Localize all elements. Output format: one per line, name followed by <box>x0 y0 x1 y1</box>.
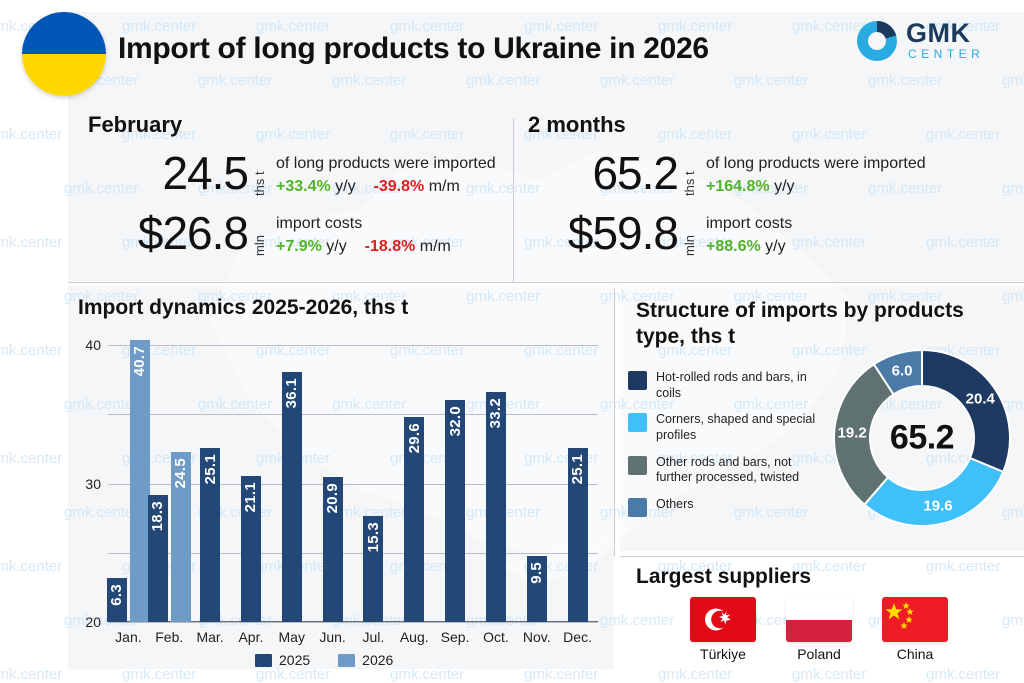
donut-legend-swatch <box>628 413 647 432</box>
donut-chart-title: Structure of imports by products type, t… <box>636 298 1006 349</box>
y-axis-tick-label: 30 <box>85 476 101 492</box>
donut-segment-value: 20.4 <box>966 391 995 408</box>
kpi-cost-description: import costs <box>706 214 792 234</box>
ukraine-flag-circle-icon <box>22 12 106 96</box>
donut-legend-item[interactable]: Corners, shaped and special profiles <box>628 412 818 443</box>
kpi-volume-row: 65.2 ths t of long products were importe… <box>528 152 926 198</box>
bar-value-label: 36.1 <box>283 378 300 408</box>
kpi-change-value: +164.8% <box>706 178 770 195</box>
donut-legend-item[interactable]: Others <box>628 497 818 517</box>
bar-group: 9.5Nov. <box>516 345 557 622</box>
donut-legend-label: Corners, shaped and special profiles <box>656 412 818 443</box>
turkiye-flag-icon <box>690 597 756 642</box>
page-title: Import of long products to Ukraine in 20… <box>118 32 709 66</box>
kpi-change-basis: y/y <box>326 238 346 255</box>
bar: 15.3 <box>363 516 383 622</box>
kpi-change-basis: y/y <box>765 238 785 255</box>
bar-value-label: 29.6 <box>406 423 423 453</box>
gmk-donut-mark-icon <box>856 20 898 62</box>
supplier-name: Poland <box>786 646 852 662</box>
suppliers-title: Largest suppliers <box>636 565 811 589</box>
bar: 9.5 <box>527 556 547 622</box>
x-axis-tick-label: Feb. <box>149 629 190 645</box>
donut-segment-value: 6.0 <box>892 362 913 379</box>
kpi-volume-unit: ths t <box>253 154 266 196</box>
x-axis-tick-label: Jan. <box>108 629 149 645</box>
bar-group: 20.9Jun. <box>312 345 353 622</box>
kpi-cost-row: $26.8 mln import costs +7.9% y/y -18.8% … <box>88 212 496 258</box>
y-axis-tick-label: 40 <box>85 337 101 353</box>
kpi-change-basis: m/m <box>420 238 451 255</box>
bar-chart-title: Import dynamics 2025-2026, ths t <box>78 296 408 320</box>
x-axis-tick-label: Dec. <box>557 629 598 645</box>
x-axis-tick-label: Mar. <box>190 629 231 645</box>
x-axis-tick-label: Nov. <box>516 629 557 645</box>
bar-value-label: 9.5 <box>528 562 545 584</box>
kpi-cost-changes: +7.9% y/y -18.8% m/m <box>276 237 451 258</box>
bar-group: 25.1Dec. <box>557 345 598 622</box>
logo-subtitle: CENTER <box>908 47 984 61</box>
bar: 21.1 <box>241 476 261 622</box>
x-axis-tick-label: Jun. <box>312 629 353 645</box>
bar-group: 21.1Apr. <box>231 345 272 622</box>
logo-name: GMK <box>906 18 971 49</box>
supplier-poland: Poland <box>786 597 852 662</box>
bar: 32.0 <box>445 400 465 622</box>
legend-label: 2026 <box>362 652 393 668</box>
kpi-block-two-months: 2 months 65.2 ths t of long products wer… <box>528 112 926 258</box>
bar-group: 33.2Oct. <box>476 345 517 622</box>
flag-blue-stripe <box>22 12 106 54</box>
bar-value-label: 33.2 <box>487 398 504 428</box>
supplier-name: Türkiye <box>690 646 756 662</box>
x-axis-tick-label: Oct. <box>476 629 517 645</box>
bar: 18.3 <box>148 495 168 622</box>
bar-chart-legend: 20252026 <box>255 652 393 668</box>
donut-legend-swatch <box>628 498 647 517</box>
gmk-center-logo: GMK CENTER <box>856 16 1006 68</box>
flag-yellow-stripe <box>22 54 106 96</box>
donut-chart-legend: Hot-rolled rods and bars, in coilsCorner… <box>628 370 818 528</box>
bar-value-label: 25.1 <box>202 454 219 484</box>
bar-group: 25.1Mar. <box>190 345 231 622</box>
bar-group: 18.324.5Feb. <box>149 345 190 622</box>
kpi-cost-value: $26.8 <box>88 212 248 256</box>
kpi-change-basis: y/y <box>774 178 794 195</box>
bar: 29.6 <box>404 417 424 622</box>
bar-group: 29.6Aug. <box>394 345 435 622</box>
infographic-canvas: gmk.centergmk.centergmk.centergmk.center… <box>0 0 1024 683</box>
divider-vertical-kpi <box>513 118 514 283</box>
bar-value-label: 25.1 <box>569 454 586 484</box>
donut-legend-label: Hot-rolled rods and bars, in coils <box>656 370 818 401</box>
donut-segment-value: 19.6 <box>923 498 952 515</box>
x-axis-tick-label: Aug. <box>394 629 435 645</box>
poland-white-stripe <box>786 597 852 620</box>
legend-label: 2025 <box>279 652 310 668</box>
bar-group: 6.340.7Jan. <box>108 345 149 622</box>
grid-line: 0 <box>108 622 598 623</box>
kpi-period-label: 2 months <box>528 112 926 138</box>
bar: 25.1 <box>568 448 588 622</box>
bar-group: 15.3Jul. <box>353 345 394 622</box>
bar: 33.2 <box>486 392 506 622</box>
kpi-cost-description: import costs <box>276 214 451 234</box>
kpi-volume-value: 24.5 <box>88 152 248 196</box>
donut-legend-swatch <box>628 371 647 390</box>
legend-item[interactable]: 2025 <box>255 652 310 668</box>
bar: 6.3 <box>107 578 127 622</box>
x-axis-tick-label: Apr. <box>231 629 272 645</box>
kpi-change-basis: y/y <box>335 178 355 195</box>
bar: 36.1 <box>282 372 302 622</box>
x-axis-tick-label: May <box>271 629 312 645</box>
x-axis-tick-label: Sep. <box>435 629 476 645</box>
kpi-change-value: +88.6% <box>706 238 761 255</box>
donut-legend-item[interactable]: Hot-rolled rods and bars, in coils <box>628 370 818 401</box>
bar-value-label: 32.0 <box>447 406 464 436</box>
donut-center-total: 65.2 <box>890 419 954 458</box>
donut-legend-label: Other rods and bars, not further process… <box>656 455 818 486</box>
x-axis-tick-label: Jul. <box>353 629 394 645</box>
donut-legend-item[interactable]: Other rods and bars, not further process… <box>628 455 818 486</box>
bar: 25.1 <box>200 448 220 622</box>
bar-value-label: 20.9 <box>324 483 341 513</box>
poland-flag-icon <box>786 597 852 642</box>
kpi-volume-unit: ths t <box>683 154 696 196</box>
legend-swatch <box>255 654 272 667</box>
bar-chart-plot-area: 0102030406.340.7Jan.18.324.5Feb.25.1Mar.… <box>108 345 598 622</box>
kpi-period-label: February <box>88 112 496 138</box>
poland-red-stripe <box>786 620 852 643</box>
donut-segment <box>864 458 1003 526</box>
kpi-volume-changes: +33.4% y/y -39.8% m/m <box>276 177 496 198</box>
kpi-volume-description: of long products were imported <box>276 154 496 174</box>
kpi-change-value: +7.9% <box>276 238 322 255</box>
supplier-name: China <box>882 646 948 662</box>
legend-item[interactable]: 2026 <box>338 652 393 668</box>
suppliers-list: Türkiye Poland <box>690 597 948 662</box>
y-axis-tick-label: 20 <box>85 614 101 630</box>
kpi-block-february: February 24.5 ths t of long products wer… <box>88 112 496 258</box>
kpi-volume-row: 24.5 ths t of long products were importe… <box>88 152 496 198</box>
kpi-change-basis: m/m <box>429 178 460 195</box>
bar-value-label: 18.3 <box>149 501 166 531</box>
bar: 24.5 <box>171 452 191 622</box>
kpi-cost-unit: mln <box>253 214 266 256</box>
bar-group: 36.1May <box>271 345 312 622</box>
kpi-change-value: +33.4% <box>276 178 331 195</box>
bar-value-label: 40.7 <box>131 346 148 376</box>
kpi-volume-description: of long products were imported <box>706 154 926 174</box>
bar-chart: 0102030406.340.7Jan.18.324.5Feb.25.1Mar.… <box>68 338 614 638</box>
supplier-turkiye: Türkiye <box>690 597 756 662</box>
donut-segment-value: 19.2 <box>838 425 867 442</box>
bar-value-label: 24.5 <box>172 458 189 488</box>
bar-value-label: 6.3 <box>108 584 125 606</box>
kpi-volume-value: 65.2 <box>528 152 678 196</box>
divider-horizontal-main <box>68 282 1024 283</box>
kpi-change-value: -39.8% <box>374 178 425 195</box>
china-flag-icon <box>882 597 948 642</box>
kpi-cost-row: $59.8 mln import costs +88.6% y/y <box>528 212 926 258</box>
divider-horizontal-suppliers <box>620 556 1024 557</box>
donut-chart: 65.2 20.419.619.26.0 <box>832 348 1012 528</box>
bar-value-label: 21.1 <box>242 482 259 512</box>
kpi-volume-changes: +164.8% y/y <box>706 177 926 198</box>
kpi-change-value: -18.8% <box>365 238 416 255</box>
bar: 20.9 <box>323 477 343 622</box>
donut-legend-swatch <box>628 456 647 475</box>
bar-value-label: 15.3 <box>365 522 382 552</box>
kpi-cost-value: $59.8 <box>528 212 678 256</box>
bar-group: 32.0Sep. <box>435 345 476 622</box>
donut-legend-label: Others <box>656 497 694 517</box>
legend-swatch <box>338 654 355 667</box>
divider-vertical-chart <box>614 288 615 556</box>
supplier-china: China <box>882 597 948 662</box>
kpi-cost-unit: mln <box>683 214 696 256</box>
kpi-cost-changes: +88.6% y/y <box>706 237 792 258</box>
